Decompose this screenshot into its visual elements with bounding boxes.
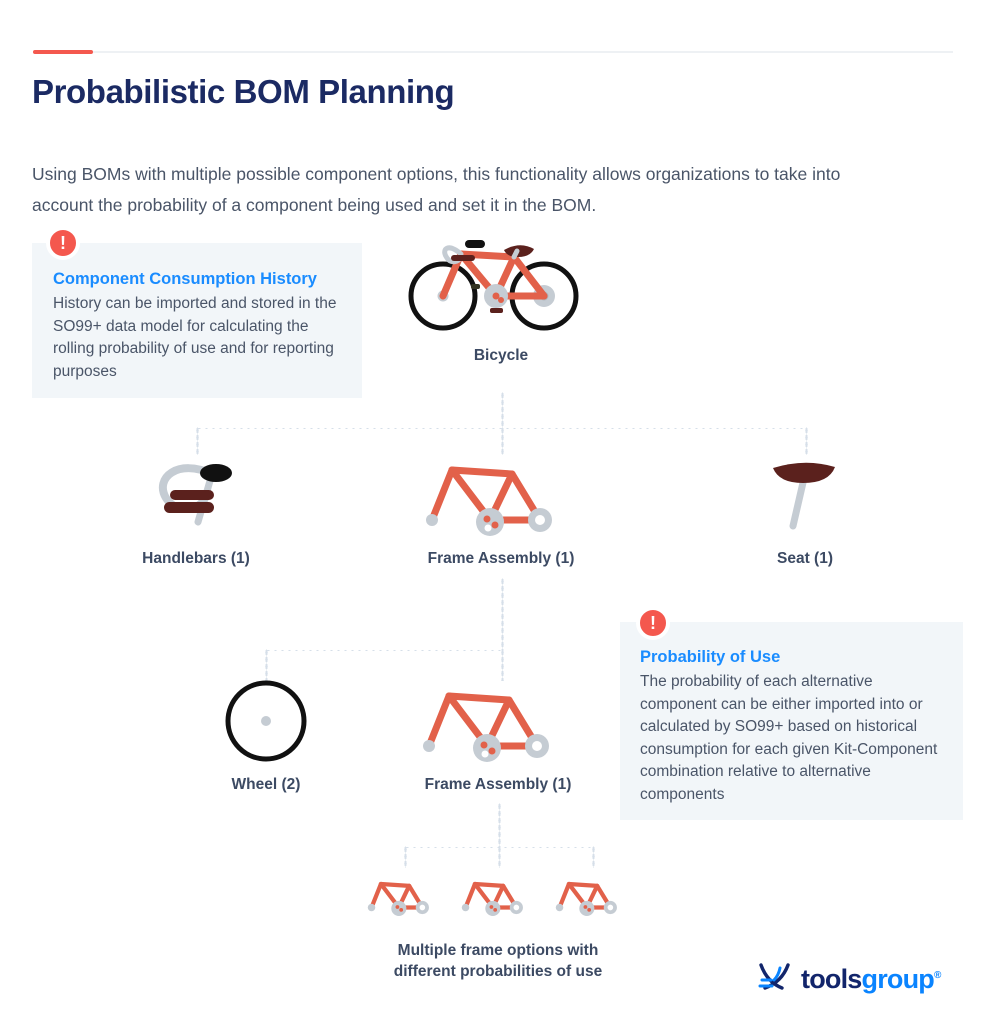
bom-node-label: Wheel (2) bbox=[196, 774, 336, 795]
callout-component-consumption-history: Component Consumption History History ca… bbox=[32, 243, 362, 398]
frame-option-icon bbox=[552, 868, 632, 928]
header-accent-bar bbox=[33, 50, 93, 54]
bom-node-handlebars[interactable]: Handlebars (1) bbox=[126, 452, 266, 569]
bom-node-seat[interactable]: Seat (1) bbox=[735, 452, 875, 569]
connector-root-down bbox=[501, 392, 504, 428]
wordmark-tools: tools bbox=[801, 964, 862, 994]
seat-icon bbox=[735, 452, 875, 542]
intro-paragraph: Using BOMs with multiple possible compon… bbox=[32, 159, 902, 221]
connector-level1-frame bbox=[501, 427, 504, 455]
brand-logo: toolsgroup® bbox=[758, 962, 941, 997]
bom-node-label: Seat (1) bbox=[735, 548, 875, 569]
bom-node-label: Bicycle bbox=[401, 345, 601, 366]
bom-node-label: Frame Assembly (1) bbox=[413, 774, 583, 795]
header-divider bbox=[33, 51, 953, 53]
bom-node-frame-option-2[interactable] bbox=[458, 868, 538, 928]
connector-level2-frame bbox=[501, 649, 504, 681]
wordmark-group: group bbox=[862, 964, 934, 994]
bom-node-label: Handlebars (1) bbox=[126, 548, 266, 569]
alert-icon: ! bbox=[46, 226, 80, 260]
callout-title: Probability of Use bbox=[640, 648, 939, 667]
frame-options-caption: Multiple frame options with different pr… bbox=[348, 940, 648, 982]
toolsgroup-mark-icon bbox=[758, 962, 792, 997]
callout-body: History can be imported and stored in th… bbox=[53, 293, 340, 383]
bom-node-frame-option-3[interactable] bbox=[552, 868, 632, 928]
connector-frame-down bbox=[501, 578, 504, 650]
callout-body: The probability of each alternative comp… bbox=[640, 671, 939, 806]
frame-assembly-icon bbox=[416, 452, 586, 542]
connector-level1-seat bbox=[805, 427, 808, 455]
wheel-icon bbox=[196, 678, 336, 768]
callout-title: Component Consumption History bbox=[53, 270, 340, 289]
bom-node-label: Frame Assembly (1) bbox=[416, 548, 586, 569]
brand-wordmark: toolsgroup® bbox=[801, 966, 941, 993]
connector-level3-opt2 bbox=[498, 846, 501, 868]
frame-option-icon bbox=[364, 868, 444, 928]
connector-level2-bus bbox=[265, 649, 503, 652]
callout-probability-of-use: Probability of Use The probability of ea… bbox=[620, 622, 963, 820]
registered-mark: ® bbox=[934, 970, 941, 981]
connector-level3-opt1 bbox=[404, 846, 407, 868]
alert-icon: ! bbox=[636, 606, 670, 640]
connector-level2-wheel bbox=[265, 649, 268, 681]
frame-assembly-icon bbox=[413, 678, 583, 768]
page-title: Probabilistic BOM Planning bbox=[32, 73, 454, 111]
bom-node-bicycle[interactable]: Bicycle bbox=[401, 224, 601, 366]
bicycle-icon bbox=[401, 224, 601, 339]
connector-level1-handlebars bbox=[196, 427, 199, 455]
connector-level3-opt3 bbox=[592, 846, 595, 868]
bom-node-frame-assembly-l1[interactable]: Frame Assembly (1) bbox=[416, 452, 586, 569]
frame-option-icon bbox=[458, 868, 538, 928]
bom-node-wheel[interactable]: Wheel (2) bbox=[196, 678, 336, 795]
connector-frame2-down bbox=[498, 803, 501, 847]
bom-node-frame-option-1[interactable] bbox=[364, 868, 444, 928]
bom-node-frame-assembly-l2[interactable]: Frame Assembly (1) bbox=[413, 678, 583, 795]
handlebars-icon bbox=[126, 452, 266, 542]
